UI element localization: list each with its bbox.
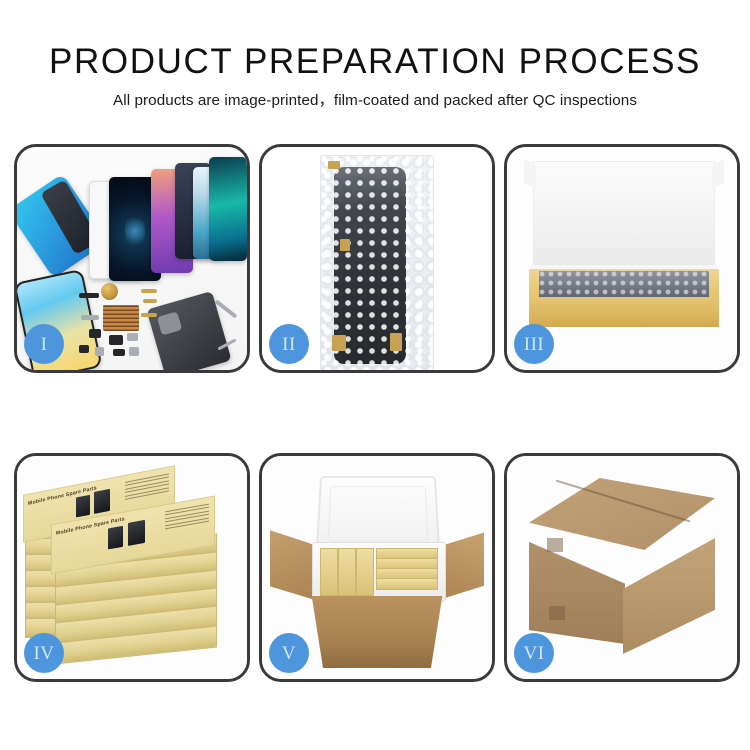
process-step-2: II	[259, 144, 495, 373]
step-badge-5: V	[269, 633, 309, 673]
part-chip-8-icon	[141, 313, 157, 317]
inner-kraft-box-1	[320, 548, 338, 596]
label-textlines-1	[125, 473, 169, 502]
process-step-6: VI	[504, 453, 740, 682]
circuit-mesh-icon	[103, 305, 139, 331]
part-chip-7-icon	[127, 333, 138, 341]
part-chip-11-icon	[113, 349, 125, 356]
part-chip-12-icon	[129, 347, 139, 356]
inner-kraft-box-3	[356, 548, 374, 596]
label-thumb-2a-icon	[108, 526, 123, 550]
flex-cable-bottom-right-icon	[390, 333, 402, 351]
inner-kraft-box-7	[376, 578, 438, 590]
part-chip-10-icon	[95, 347, 104, 356]
step-badge-6: VI	[514, 633, 554, 673]
process-step-4: Mobile Phone Spare Parts Mobile Phone Sp…	[14, 453, 250, 682]
carton-left-face-icon	[529, 528, 625, 644]
process-step-1: I	[14, 144, 250, 373]
label-textlines-2	[165, 504, 209, 532]
part-chip-1-icon	[79, 293, 99, 298]
label-thumb-1b-icon	[94, 489, 110, 514]
page-title: PRODUCT PREPARATION PROCESS	[0, 0, 750, 82]
label-thumb-2b-icon	[128, 520, 145, 546]
phone-screen-teal-icon	[209, 157, 247, 261]
part-chip-5-icon	[89, 329, 101, 338]
part-chip-3-icon	[143, 299, 157, 303]
carton-tape-lower-icon	[549, 606, 565, 620]
page-subtitle: All products are image-printed，film-coat…	[0, 82, 750, 111]
product-preparation-infographic: PRODUCT PREPARATION PROCESS All products…	[0, 0, 750, 750]
header: PRODUCT PREPARATION PROCESS All products…	[0, 0, 750, 111]
flex-cable-bottom-left-icon	[332, 335, 346, 351]
step-badge-3: III	[514, 324, 554, 364]
bubble-wrap-fill-icon	[539, 271, 709, 299]
step-badge-2: II	[269, 324, 309, 364]
part-chip-2-icon	[141, 289, 157, 293]
carton-body-icon	[306, 596, 448, 668]
process-step-3: III	[504, 144, 740, 373]
step-badge-1: I	[24, 324, 64, 364]
step-badge-4: IV	[24, 633, 64, 673]
part-chip-9-icon	[79, 345, 89, 353]
part-chip-6-icon	[109, 335, 123, 345]
carton-right-face-icon	[623, 538, 715, 654]
part-chip-4-icon	[81, 315, 99, 320]
carton-tape-upper-icon	[547, 538, 563, 552]
flex-cable-middle-icon	[340, 239, 350, 251]
label-thumb-1a-icon	[76, 495, 90, 518]
kraft-tray-front-icon	[529, 297, 719, 327]
gold-component-icon	[101, 283, 118, 300]
flex-cable-top-icon	[328, 161, 340, 169]
process-step-grid: I II III	[14, 144, 736, 682]
process-step-5: V	[259, 453, 495, 682]
box-lid-icon	[533, 161, 715, 275]
inner-kraft-box-2	[338, 548, 356, 596]
